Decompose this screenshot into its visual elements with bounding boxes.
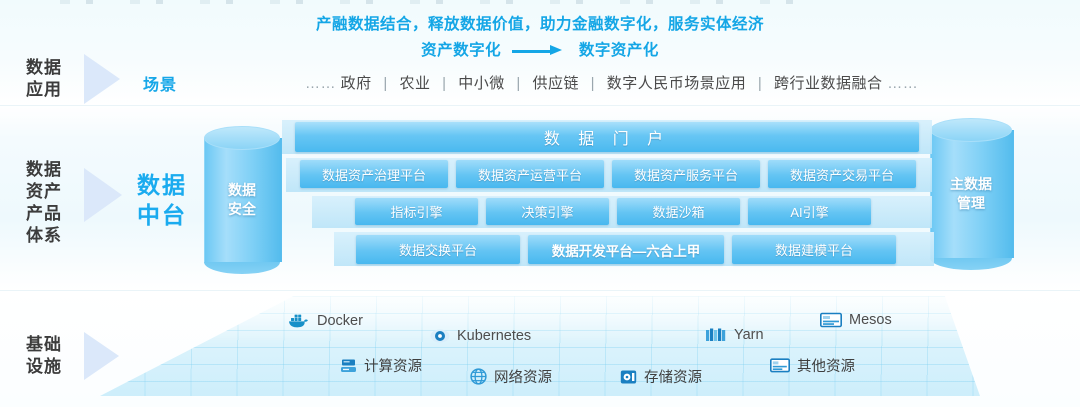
scenario-item: 供应链	[532, 75, 579, 92]
infra-item-docker[interactable]: Docker	[288, 313, 363, 329]
plate-data-sandbox[interactable]: 数据沙箱	[617, 198, 740, 225]
headline-line1: 产融数据结合，释放数据价值，助力金融数字化，服务实体经济	[0, 12, 1080, 34]
infra-item-storage-resource[interactable]: 存储资源	[620, 366, 702, 387]
section-label-scenario: 场景	[143, 71, 177, 95]
plate-data-asset-operation[interactable]: 数据资产运营平台	[456, 160, 604, 188]
yarn-bars-icon	[705, 328, 727, 343]
headline-asset-digitalization: 资产数字化	[421, 42, 501, 59]
infra-label: Yarn	[734, 327, 764, 343]
infra-label: Mesos	[849, 312, 892, 328]
docker-whale-icon	[288, 313, 310, 329]
infra-item-other-resource[interactable]: 其他资源	[770, 355, 855, 376]
headline-line2: 资产数字化 数字资产化	[0, 38, 1080, 60]
scenario-separator: |	[751, 75, 769, 92]
infra-label: 计算资源	[364, 355, 422, 376]
scenario-item: 农业	[399, 75, 430, 92]
headline: 产融数据结合，释放数据价值，助力金融数字化，服务实体经济 资产数字化 数字资产化	[0, 12, 1080, 60]
infra-item-kubernetes[interactable]: Kubernetes	[430, 327, 531, 345]
plate-data-asset-service[interactable]: 数据资产服务平台	[612, 160, 760, 188]
infra-label: 其他资源	[797, 355, 855, 376]
cylinder-data-security: 数据 安全	[204, 126, 280, 274]
infra-label: Kubernetes	[457, 328, 531, 344]
headline-digital-assetization: 数字资产化	[579, 42, 659, 59]
cylinder-label: 主数据 管理	[950, 175, 992, 213]
infra-label: 网络资源	[494, 366, 552, 387]
right-arrow-icon	[512, 45, 568, 56]
plate-data-asset-trading[interactable]: 数据资产交易平台	[768, 160, 916, 188]
divider-bottom	[0, 290, 1080, 291]
network-globe-icon	[470, 368, 487, 385]
infra-label: 存储资源	[644, 366, 702, 387]
storage-disk-icon	[620, 369, 637, 385]
scenario-separator: |	[509, 75, 527, 92]
layer-title-asset-product-system: 数据 资产 产品 体系	[26, 159, 62, 247]
plate-data-modeling[interactable]: 数据建模平台	[732, 235, 896, 264]
plate-data-portal[interactable]: 数 据 门 户	[295, 122, 919, 152]
infra-label: Docker	[317, 313, 363, 329]
scenario-separator: |	[435, 75, 453, 92]
arrow-icon-application	[84, 54, 120, 104]
infra-item-mesos[interactable]: Mesos	[820, 312, 892, 328]
plate-data-exchange[interactable]: 数据交换平台	[356, 235, 520, 264]
scenario-item: 中小微	[458, 75, 505, 92]
section-label-data-middle-platform: 数据 中台	[137, 170, 187, 230]
arrow-icon-asset-product-system	[84, 168, 122, 222]
infra-item-yarn[interactable]: Yarn	[705, 327, 764, 343]
divider-top	[0, 105, 1080, 106]
platform-stack: 数 据 门 户 数据资产治理平台 数据资产运营平台 数据资产服务平台 数据资产交…	[282, 118, 932, 278]
plate-data-development-liuheshangjia[interactable]: 数据开发平台—六合上甲	[528, 235, 724, 264]
cylinder-master-data-management: 主数据 管理	[930, 118, 1012, 270]
plate-data-asset-governance[interactable]: 数据资产治理平台	[300, 160, 448, 188]
cylinder-label: 数据 安全	[228, 181, 256, 219]
scenario-list: …… 政府 | 农业 | 中小微 | 供应链 | 数字人民币场景应用 | 跨行业…	[305, 72, 918, 93]
scenario-prefix-dots: ……	[305, 75, 336, 92]
compute-server-icon	[340, 358, 357, 374]
layer-title-infrastructure: 基础 设施	[26, 334, 62, 378]
scenario-item: 政府	[341, 75, 372, 92]
plate-decision-engine[interactable]: 决策引擎	[486, 198, 609, 225]
mesos-server-icon	[820, 312, 842, 328]
plate-metric-engine[interactable]: 指标引擎	[355, 198, 478, 225]
scenario-separator: |	[376, 75, 394, 92]
infra-item-network-resource[interactable]: 网络资源	[470, 366, 552, 387]
infra-item-compute-resource[interactable]: 计算资源	[340, 355, 422, 376]
other-card-icon	[770, 358, 790, 373]
architecture-diagram: 产融数据结合，释放数据价值，助力金融数字化，服务实体经济 资产数字化 数字资产化…	[0, 0, 1080, 407]
scenario-item: 跨行业数据融合	[774, 75, 883, 92]
scenario-separator: |	[584, 75, 602, 92]
cut-off-text-sliver	[60, 0, 820, 4]
kubernetes-helm-icon	[430, 327, 450, 345]
plate-ai-engine[interactable]: AI引擎	[748, 198, 871, 225]
scenario-item: 数字人民币场景应用	[607, 75, 747, 92]
layer-title-application: 数据 应用	[26, 57, 62, 101]
scenario-suffix-dots: ……	[887, 75, 918, 92]
